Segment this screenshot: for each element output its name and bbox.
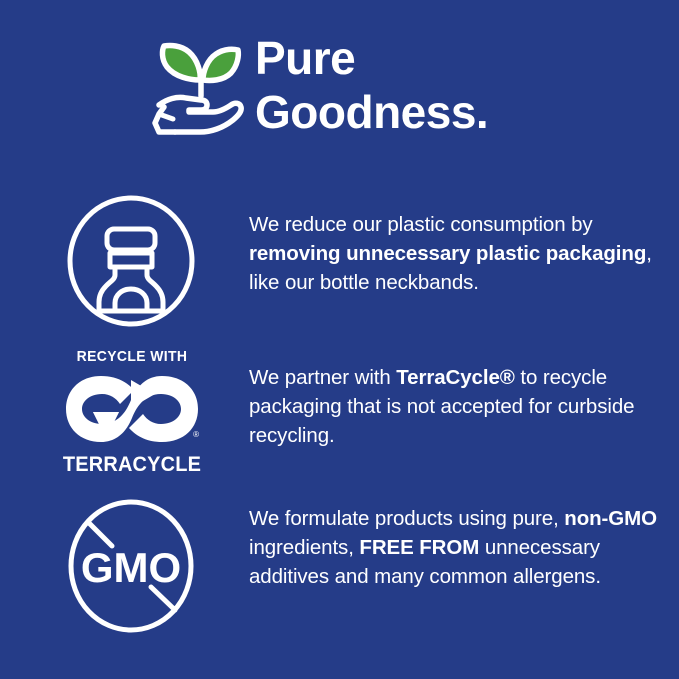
text-segment: We formulate products using pure, [249,507,564,530]
text-segment-bold: non-GMO [564,507,657,530]
feature-text-non-gmo: We formulate products using pure, non-GM… [249,504,669,591]
no-gmo-icon-label: GMO [81,544,181,591]
text-segment-bold: FREE FROM [359,536,479,559]
feature-text-terracycle: We partner with TerraCycle® to recycle p… [249,363,669,450]
pure-goodness-infographic: Pure Goodness. We reduce our plastic con… [0,0,679,679]
infinity-recycle-arrows-icon [57,368,207,450]
text-segment-bold: removing unnecessary plastic packaging [249,242,646,265]
header: Pure Goodness. [0,0,679,175]
terracycle-logo-top-text: RECYCLE WITH [62,349,202,364]
feature-row-terracycle: RECYCLE WITH ® TERRACYCLE [0,340,679,485]
page-title: Pure Goodness. [255,31,655,139]
registered-trademark-mark: ® [193,431,199,439]
text-segment: ingredients, [249,536,359,559]
text-segment-bold: TerraCycle® [396,366,514,389]
text-segment: We reduce our plastic consumption by [249,213,593,236]
bottle-neckband-icon [63,193,199,329]
feature-row-plastic-reduction: We reduce our plastic consumption by rem… [0,185,679,335]
text-segment: We partner with [249,366,396,389]
hand-holding-sprout-icon [143,33,255,145]
terracycle-logo: RECYCLE WITH ® TERRACYCLE [57,349,207,477]
terracycle-logo-bottom-text: TERRACYCLE [61,454,204,475]
no-gmo-icon: GMO GMO [63,498,199,634]
no-gmo-icon-label-text: GMO [199,498,200,499]
feature-text-plastic-reduction: We reduce our plastic consumption by rem… [249,210,669,297]
feature-row-non-gmo: GMO GMO We formulate products using pure… [0,492,679,642]
